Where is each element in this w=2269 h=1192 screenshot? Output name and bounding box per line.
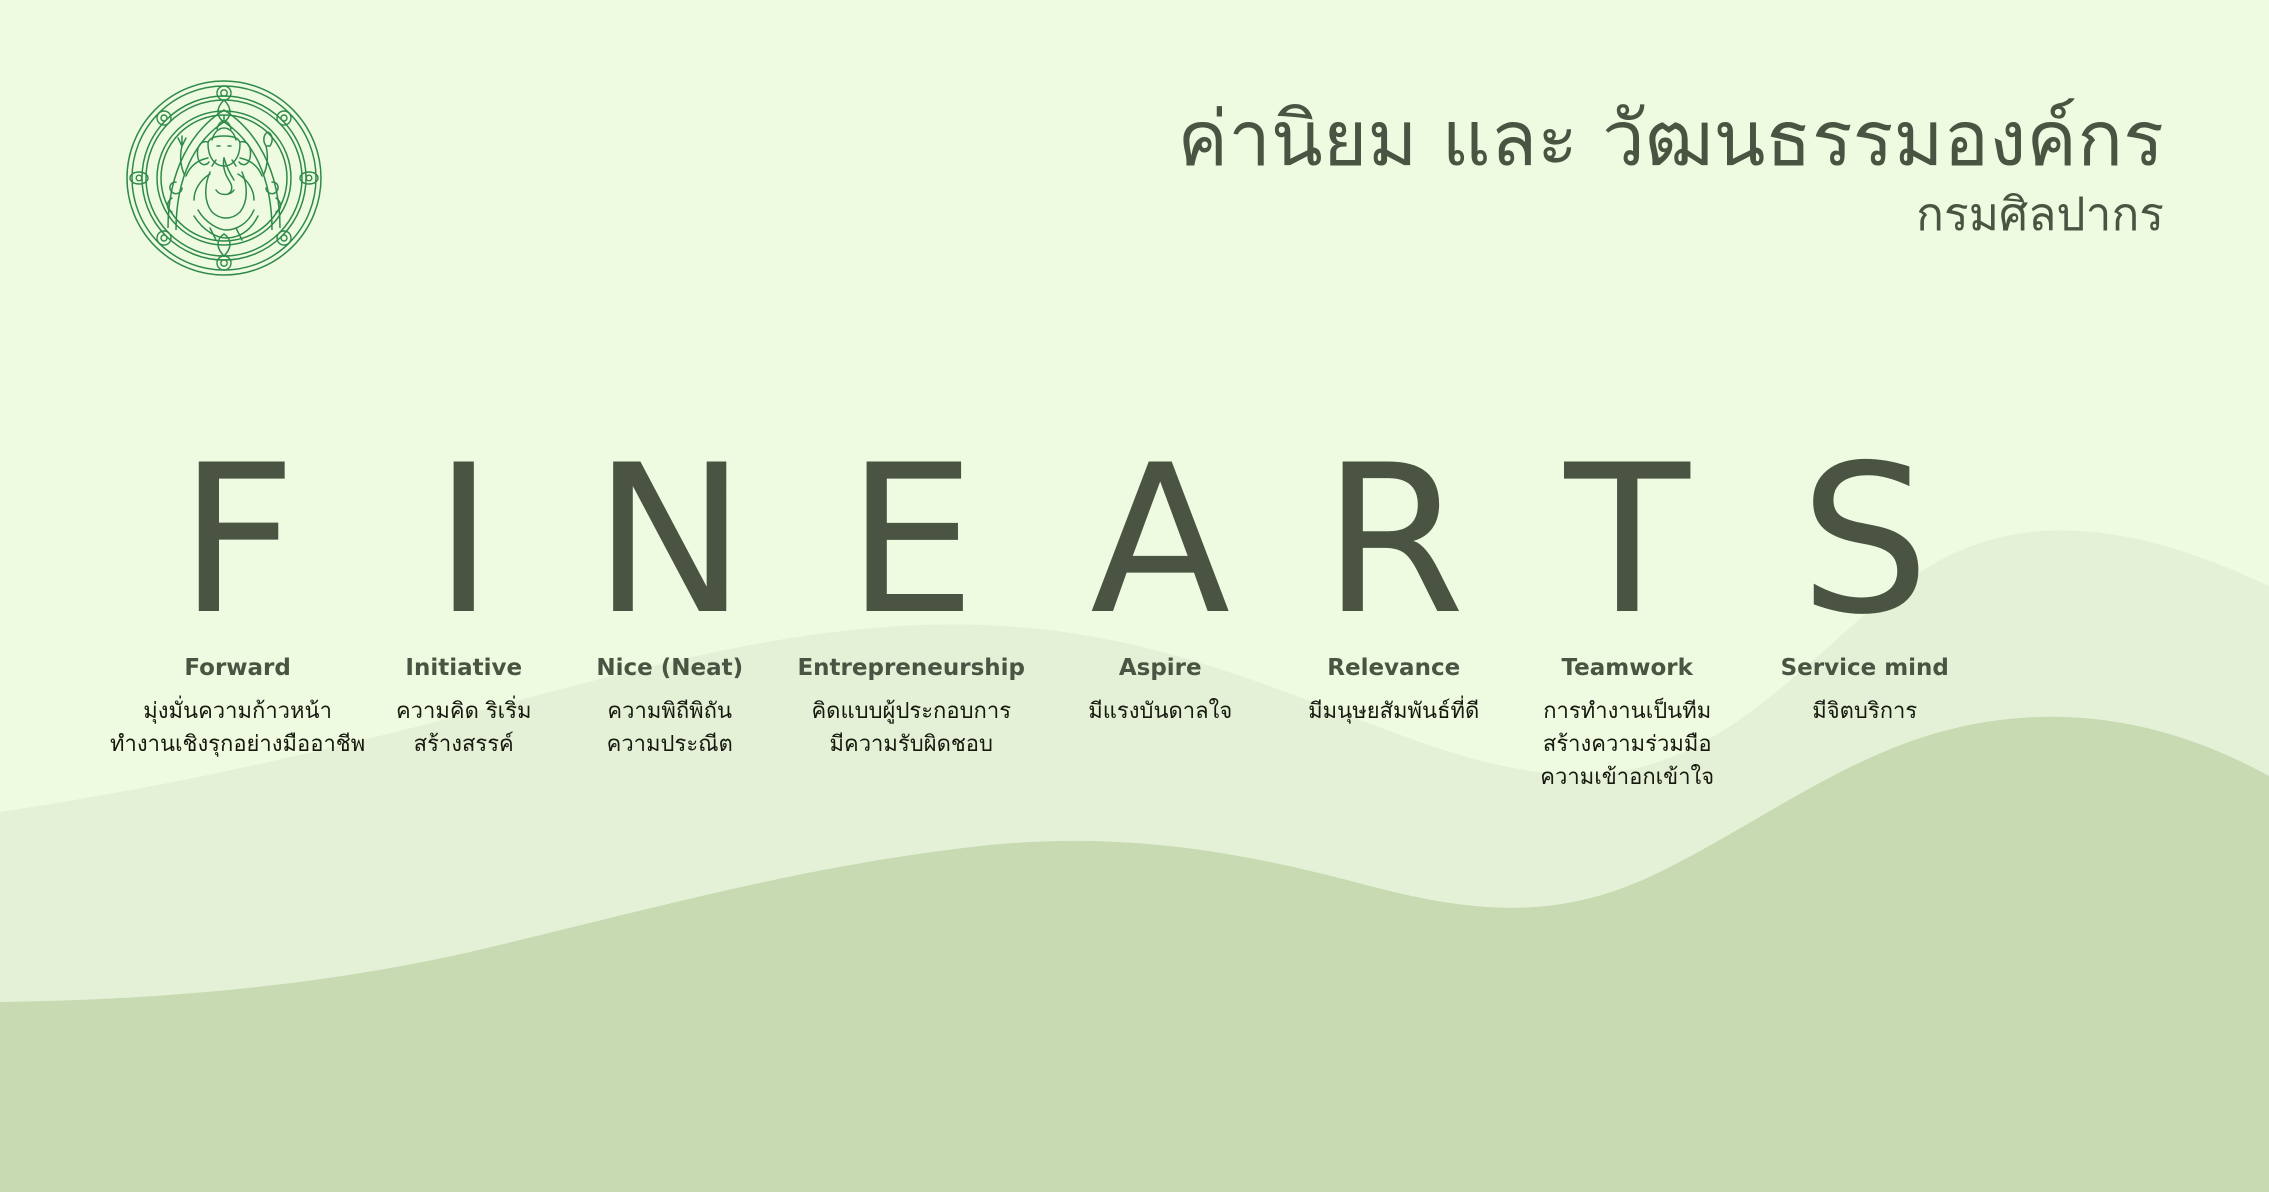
description-line: สร้างความร่วมมือ	[1540, 728, 1714, 761]
acronym-description: การทำงานเป็นทีม สร้างความร่วมมือ ความเข้…	[1540, 695, 1714, 794]
description-line: ความคิด ริเริ่ม	[396, 695, 532, 728]
header: ค่านิยม และ วัฒนธรรมองค์กร กรมศิลปากร	[0, 0, 2269, 300]
acronym-term: Forward	[184, 655, 291, 681]
fine-arts-department-ganesha-emblem-icon	[124, 78, 324, 278]
title-block: ค่านิยม และ วัฒนธรรมองค์กร กรมศิลปากร	[1177, 100, 2164, 243]
acronym-letter: R	[1323, 455, 1465, 627]
acronym-letter: S	[1800, 455, 1930, 627]
page-title: ค่านิยม และ วัฒนธรรมองค์กร	[1177, 100, 2164, 178]
acronym-column-forward: F Forward มุ่งมั่นความก้าวหน้า ทำงานเชิง…	[110, 455, 365, 794]
acronym-term: Relevance	[1327, 655, 1460, 681]
description-line: มีมนุษยสัมพันธ์ที่ดี	[1308, 695, 1479, 728]
description-line: คิดแบบผู้ประกอบการ	[811, 695, 1011, 728]
acronym-term: Entrepreneurship	[797, 655, 1025, 681]
acronym-column-aspire: A Aspire มีแรงบันดาลใจ	[1045, 455, 1275, 794]
acronym-term: Nice (Neat)	[596, 655, 743, 681]
acronym-letter: F	[179, 455, 297, 627]
description-line: การทำงานเป็นทีม	[1540, 695, 1714, 728]
description-line: สร้างสรรค์	[396, 728, 532, 761]
description-line: มุ่งมั่นความก้าวหน้า	[110, 695, 365, 728]
description-line: ความประณีต	[607, 728, 733, 761]
acronym-term: Service mind	[1781, 655, 1949, 681]
acronym-term: Aspire	[1119, 655, 1202, 681]
description-line: มีความรับผิดชอบ	[811, 728, 1011, 761]
acronym-letter: I	[434, 455, 494, 627]
acronym-letter: A	[1090, 455, 1230, 627]
description-line: มีแรงบันดาลใจ	[1088, 695, 1232, 728]
acronym-description: ความคิด ริเริ่ม สร้างสรรค์	[396, 695, 532, 761]
acronym-column-service-mind: S Service mind มีจิตบริการ	[1742, 455, 1987, 794]
acronym-column-nice: N Nice (Neat) ความพิถีพิถัน ความประณีต	[562, 455, 777, 794]
acronym-column-teamwork: T Teamwork การทำงานเป็นทีม สร้างความร่วม…	[1512, 455, 1742, 794]
acronym-column-relevance: R Relevance มีมนุษยสัมพันธ์ที่ดี	[1275, 455, 1512, 794]
acronym-letter: E	[846, 455, 976, 627]
acronym-description: คิดแบบผู้ประกอบการ มีความรับผิดชอบ	[811, 695, 1011, 761]
acronym-letter: N	[593, 455, 746, 627]
description-line: ความพิถีพิถัน	[607, 695, 733, 728]
acronym-description: ความพิถีพิถัน ความประณีต	[607, 695, 733, 761]
acronym-letter: T	[1565, 455, 1690, 627]
acronym-column-initiative: I Initiative ความคิด ริเริ่ม สร้างสรรค์	[365, 455, 562, 794]
description-line: ทำงานเชิงรุกอย่างมืออาชีพ	[110, 728, 365, 761]
page-subtitle: กรมศิลปากร	[1177, 186, 2164, 244]
acronym-description: มุ่งมั่นความก้าวหน้า ทำงานเชิงรุกอย่างมื…	[110, 695, 365, 761]
description-line: มีจิตบริการ	[1812, 695, 1917, 728]
acronym-description: มีจิตบริการ	[1812, 695, 1917, 728]
acronym-term: Initiative	[405, 655, 522, 681]
finearts-acronym-grid: F Forward มุ่งมั่นความก้าวหน้า ทำงานเชิง…	[110, 455, 2165, 794]
acronym-column-entrepreneurship: E Entrepreneurship คิดแบบผู้ประกอบการ มี…	[777, 455, 1045, 794]
acronym-term: Teamwork	[1562, 655, 1693, 681]
acronym-description: มีแรงบันดาลใจ	[1088, 695, 1232, 728]
description-line: ความเข้าอกเข้าใจ	[1540, 761, 1714, 794]
acronym-description: มีมนุษยสัมพันธ์ที่ดี	[1308, 695, 1479, 728]
